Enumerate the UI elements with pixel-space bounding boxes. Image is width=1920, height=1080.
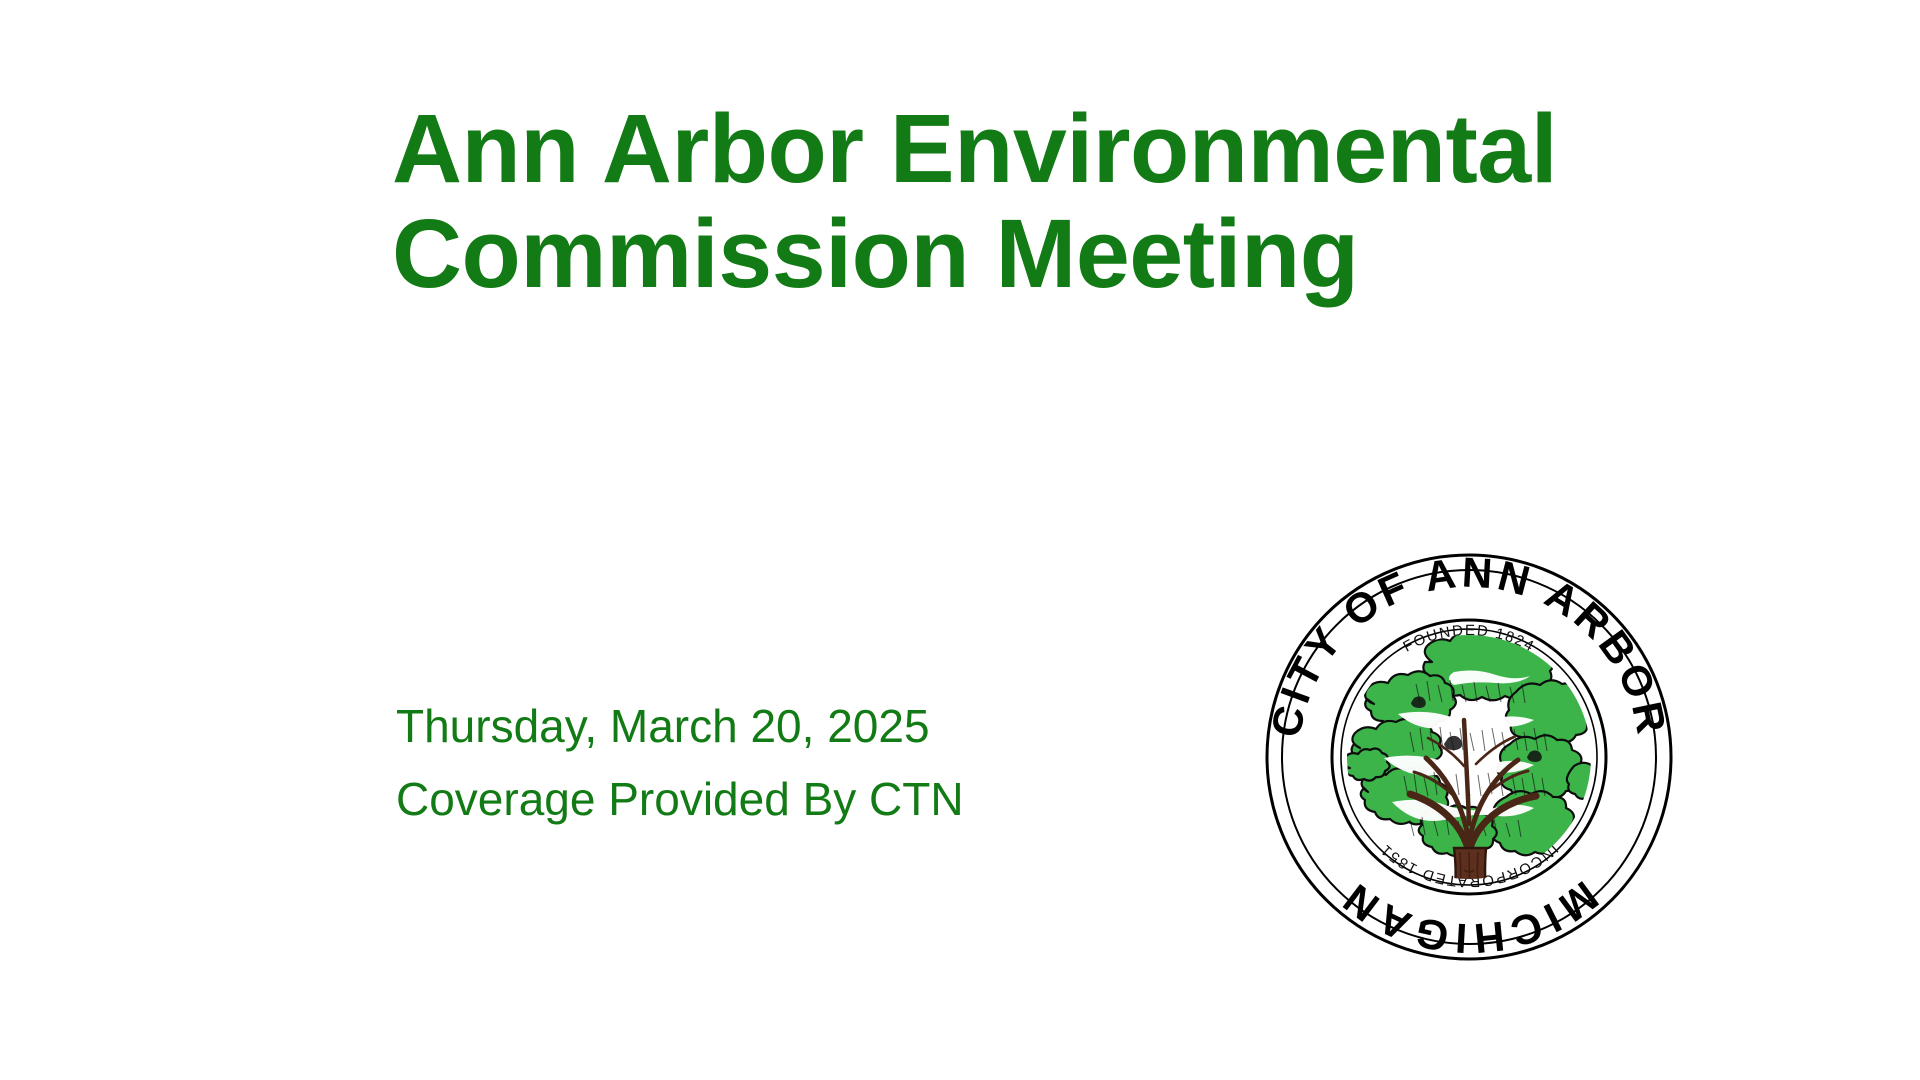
page-title: Ann Arbor Environmental Commission Meeti… — [392, 96, 1852, 306]
subtitle-block: Thursday, March 20, 2025 Coverage Provid… — [396, 690, 1296, 836]
slide-canvas: Ann Arbor Environmental Commission Meeti… — [0, 0, 1920, 1080]
coverage-credit: Coverage Provided By CTN — [396, 763, 1296, 836]
title-block: Ann Arbor Environmental Commission Meeti… — [392, 96, 1852, 306]
meeting-date: Thursday, March 20, 2025 — [396, 690, 1296, 763]
city-of-ann-arbor-seal-icon: CITY OF ANN ARBOR MICHIGAN FOUNDED 1824 … — [1264, 552, 1674, 962]
